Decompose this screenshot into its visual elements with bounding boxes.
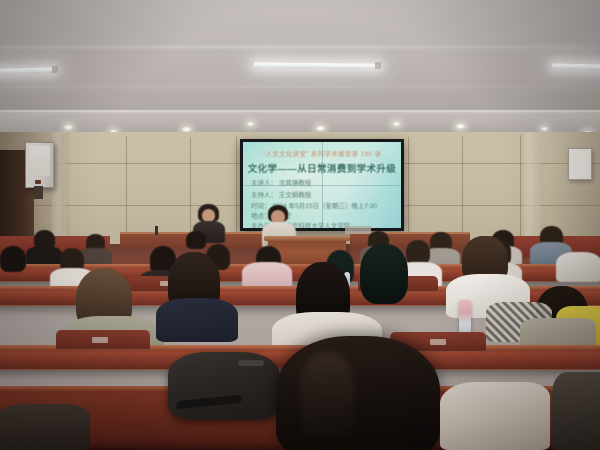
student-head — [360, 244, 408, 304]
backpack-handle — [238, 360, 264, 366]
speaker-grille — [29, 146, 50, 176]
foreground-hair-highlight — [300, 352, 354, 448]
wall-pillar-right — [524, 132, 540, 252]
student-pink-hood — [242, 262, 292, 288]
microphone-icon — [155, 226, 158, 235]
speaker-led — [35, 180, 41, 184]
student-body-navy — [156, 298, 238, 342]
pa-speaker-icon — [25, 142, 54, 188]
student-head — [186, 231, 206, 249]
foreground-student-left — [0, 404, 90, 450]
seat-number-plate — [92, 337, 108, 343]
tube-light-center-cap — [375, 62, 381, 69]
student-head — [0, 246, 26, 272]
foreground-student-garment — [440, 382, 550, 450]
speaker-mount — [34, 186, 43, 199]
projection-screen: "人文文化讲堂" 系列学术报告第 190 讲 文化学——从日常消费到学术升级 主… — [243, 142, 401, 228]
ceiling-seam — [0, 46, 600, 48]
downlight-4 — [247, 122, 254, 126]
downlight-8 — [541, 127, 548, 131]
foreground-student-right — [552, 372, 600, 450]
downlight-5 — [316, 126, 325, 131]
screen-panel-seam-horizontal — [243, 185, 401, 186]
ceiling-soffit-edge — [0, 110, 600, 112]
wall-panel-line — [520, 135, 521, 252]
downlight-6 — [393, 122, 400, 126]
water-bottle-pink — [459, 300, 471, 332]
downlight-1 — [64, 125, 73, 130]
wall-notice-frame — [568, 148, 592, 180]
lecture-hall-photo: "人文文化讲堂" 系列学术报告第 190 讲 文化学——从日常消费到学术升级 主… — [0, 0, 600, 450]
student-body — [26, 246, 62, 266]
student-head — [406, 240, 430, 264]
lectern-top — [264, 236, 350, 241]
seat-number-plate — [430, 339, 446, 345]
downlight-7 — [456, 124, 465, 129]
tube-light-left-cap — [52, 66, 58, 73]
tote-bag-white — [556, 252, 600, 282]
projection-screen-frame: "人文文化讲堂" 系列学术报告第 190 讲 文化学——从日常消费到学术升级 主… — [240, 139, 404, 231]
table-nameplate — [345, 226, 371, 234]
ceiling-seam-lower — [0, 86, 600, 88]
